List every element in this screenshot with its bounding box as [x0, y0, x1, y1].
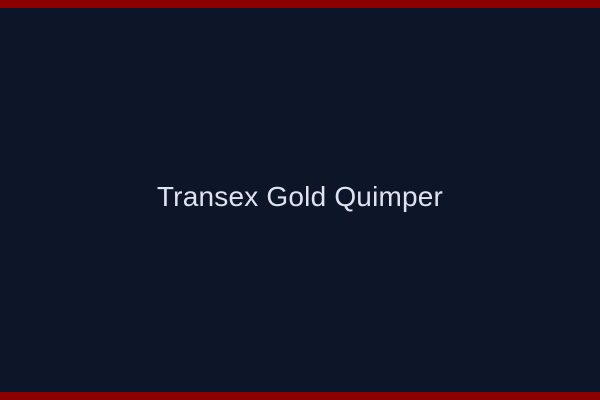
page-title: Transex Gold Quimper — [133, 180, 467, 214]
bottom-accent-band — [0, 391, 600, 400]
content-stage: Transex Gold Quimper — [0, 9, 600, 391]
top-accent-band — [0, 0, 600, 9]
placeholder-canvas: Transex Gold Quimper — [0, 0, 600, 400]
